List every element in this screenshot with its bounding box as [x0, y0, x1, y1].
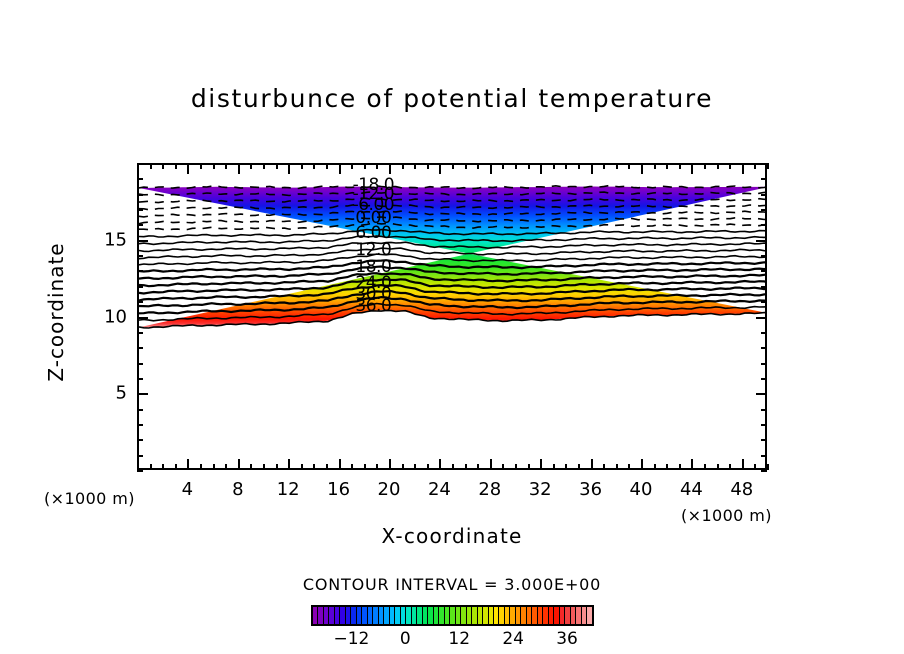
- x-tick-minor-top: [150, 163, 152, 169]
- x-tick-minor-top: [465, 163, 467, 169]
- x-tick-major-top: [591, 163, 593, 174]
- x-tick-minor: [150, 464, 152, 470]
- y-tick-minor-right: [761, 409, 767, 411]
- x-tick-minor: [603, 464, 605, 470]
- x-tick-label: 12: [277, 479, 300, 500]
- x-tick-minor-top: [528, 163, 530, 169]
- x-tick-minor: [666, 464, 668, 470]
- x-tick-major: [389, 459, 391, 470]
- y-tick-minor: [137, 347, 143, 349]
- x-tick-minor-top: [654, 163, 656, 169]
- y-tick-minor-right: [761, 270, 767, 272]
- contour-line-negative: [139, 205, 765, 210]
- x-tick-minor-top: [666, 163, 668, 169]
- colorbar-tick-label: 0: [400, 629, 411, 649]
- x-tick-minor: [276, 464, 278, 470]
- x-tick-minor: [162, 464, 164, 470]
- x-tick-minor: [263, 464, 265, 470]
- plot-area: -18.0-12.0-6.000.006.0012.018.024.030.03…: [137, 163, 767, 470]
- y-tick-minor-right: [761, 363, 767, 365]
- x-tick-minor: [452, 464, 454, 470]
- x-tick-major: [439, 459, 441, 470]
- x-tick-minor-top: [276, 163, 278, 169]
- colorbar-tick-labels: −120122436: [311, 629, 594, 653]
- x-tick-minor-top: [515, 163, 517, 169]
- contour-line-negative: [139, 198, 765, 202]
- y-tick-minor-right: [761, 455, 767, 457]
- contour-line-negative: [139, 223, 765, 230]
- x-tick-minor: [515, 464, 517, 470]
- x-tick-minor: [729, 464, 731, 470]
- colorbar-caption: CONTOUR INTERVAL = 3.000E+00: [0, 575, 904, 594]
- x-tick-major-top: [389, 163, 391, 174]
- x-tick-minor-top: [729, 163, 731, 169]
- y-tick-minor: [137, 424, 143, 426]
- y-tick-label: 15: [95, 229, 127, 250]
- y-tick-minor-right: [761, 224, 767, 226]
- x-tick-minor-top: [717, 163, 719, 169]
- x-tick-minor-top: [427, 163, 429, 169]
- x-tick-minor-top: [162, 163, 164, 169]
- x-tick-minor: [200, 464, 202, 470]
- x-tick-minor: [313, 464, 315, 470]
- x-tick-minor: [175, 464, 177, 470]
- y-tick-minor-right: [761, 439, 767, 441]
- y-tick-major-right: [756, 240, 767, 242]
- y-tick-minor: [137, 409, 143, 411]
- x-tick-minor-top: [175, 163, 177, 169]
- x-tick-minor: [628, 464, 630, 470]
- x-tick-label: 16: [327, 479, 350, 500]
- contour-field-container: -18.0-12.0-6.000.006.0012.018.024.030.03…: [139, 165, 765, 468]
- y-tick-major-right: [756, 317, 767, 319]
- x-tick-major: [742, 459, 744, 470]
- x-tick-minor-top: [250, 163, 252, 169]
- x-tick-minor-top: [603, 163, 605, 169]
- contour-line-positive: [139, 230, 765, 238]
- x-axis-unit-left: (×1000 m): [44, 489, 135, 508]
- y-tick-major: [137, 240, 148, 242]
- x-tick-minor: [502, 464, 504, 470]
- x-tick-minor: [213, 464, 215, 470]
- x-tick-minor: [616, 464, 618, 470]
- y-tick-minor: [137, 332, 143, 334]
- x-tick-major: [490, 459, 492, 470]
- x-tick-minor: [364, 464, 366, 470]
- x-tick-major: [691, 459, 693, 470]
- x-tick-minor: [767, 464, 769, 470]
- x-tick-minor: [250, 464, 252, 470]
- x-tick-minor: [301, 464, 303, 470]
- x-tick-minor-top: [679, 163, 681, 169]
- x-tick-minor: [565, 464, 567, 470]
- x-tick-major: [591, 459, 593, 470]
- contour-line-negative: [139, 211, 765, 217]
- y-axis-title-text: Z-coordinate: [44, 227, 68, 397]
- x-tick-minor-top: [565, 163, 567, 169]
- x-tick-major: [540, 459, 542, 470]
- x-tick-minor-top: [301, 163, 303, 169]
- x-tick-major-top: [490, 163, 492, 174]
- x-tick-minor-top: [225, 163, 227, 169]
- y-tick-minor: [137, 255, 143, 257]
- x-tick-label: 40: [630, 479, 653, 500]
- y-tick-minor: [137, 270, 143, 272]
- x-tick-major: [238, 459, 240, 470]
- y-tick-minor: [137, 439, 143, 441]
- x-tick-minor: [225, 464, 227, 470]
- contour-line-positive: [139, 285, 765, 301]
- x-tick-label: 24: [428, 479, 451, 500]
- x-tick-minor-top: [402, 163, 404, 169]
- y-tick-minor-right: [761, 178, 767, 180]
- x-tick-label: 4: [182, 479, 193, 500]
- x-axis-title: X-coordinate: [0, 524, 904, 548]
- colorbar-tick-label: 24: [502, 629, 524, 649]
- y-tick-minor: [137, 301, 143, 303]
- contour-line-positive: [139, 236, 765, 245]
- contour-line-negative: [139, 217, 765, 224]
- x-tick-label: 48: [730, 479, 753, 500]
- x-tick-minor: [578, 464, 580, 470]
- y-tick-minor-right: [761, 286, 767, 288]
- y-tick-minor: [137, 455, 143, 457]
- contour-line-positive: [139, 291, 765, 306]
- x-tick-major: [187, 459, 189, 470]
- y-tick-minor-right: [761, 209, 767, 211]
- y-tick-minor-right: [761, 378, 767, 380]
- x-tick-label: 44: [680, 479, 703, 500]
- x-tick-minor-top: [376, 163, 378, 169]
- colorbar-tick-label: −12: [333, 629, 369, 649]
- x-axis-unit-right: (×1000 m): [681, 506, 772, 525]
- y-tick-major: [137, 163, 148, 165]
- y-tick-minor: [137, 194, 143, 196]
- x-tick-major-top: [288, 163, 290, 174]
- x-tick-minor-top: [452, 163, 454, 169]
- x-tick-minor-top: [578, 163, 580, 169]
- x-tick-minor-top: [364, 163, 366, 169]
- y-tick-minor: [137, 286, 143, 288]
- x-tick-minor: [402, 464, 404, 470]
- y-tick-minor-right: [761, 332, 767, 334]
- x-tick-major-top: [339, 163, 341, 174]
- y-tick-major: [137, 317, 148, 319]
- y-tick-minor-right: [761, 424, 767, 426]
- x-tick-major: [641, 459, 643, 470]
- contour-line-negative: [139, 192, 765, 196]
- figure-title: disturbunce of potential temperature: [0, 84, 904, 113]
- y-tick-major-right: [756, 393, 767, 395]
- x-tick-major-top: [540, 163, 542, 174]
- y-tick-minor: [137, 224, 143, 226]
- x-tick-minor: [414, 464, 416, 470]
- colorbar: [311, 605, 594, 626]
- x-tick-minor-top: [263, 163, 265, 169]
- y-tick-minor-right: [761, 194, 767, 196]
- y-tick-label: 10: [95, 306, 127, 327]
- x-tick-minor-top: [616, 163, 618, 169]
- contour-plot-figure: disturbunce of potential temperature -18…: [0, 0, 904, 654]
- x-tick-major-top: [641, 163, 643, 174]
- colorbar-swatch: [587, 607, 591, 624]
- x-tick-minor-top: [200, 163, 202, 169]
- x-tick-minor: [754, 464, 756, 470]
- x-tick-minor-top: [704, 163, 706, 169]
- x-tick-minor: [427, 464, 429, 470]
- y-tick-major-right: [756, 163, 767, 165]
- x-tick-minor: [351, 464, 353, 470]
- x-tick-major-top: [238, 163, 240, 174]
- x-tick-minor: [528, 464, 530, 470]
- y-tick-minor: [137, 378, 143, 380]
- contour-lines-svg: [139, 165, 765, 468]
- x-tick-minor-top: [326, 163, 328, 169]
- x-tick-major-top: [439, 163, 441, 174]
- x-tick-minor: [704, 464, 706, 470]
- x-tick-minor-top: [477, 163, 479, 169]
- x-tick-minor: [679, 464, 681, 470]
- x-tick-minor-top: [351, 163, 353, 169]
- y-tick-minor: [137, 178, 143, 180]
- y-tick-minor-right: [761, 301, 767, 303]
- x-tick-label: 20: [378, 479, 401, 500]
- x-tick-minor: [326, 464, 328, 470]
- colorbar-tick-label: 36: [556, 629, 578, 649]
- x-tick-minor-top: [767, 163, 769, 169]
- x-tick-minor: [477, 464, 479, 470]
- x-tick-major-top: [691, 163, 693, 174]
- x-tick-major-top: [187, 163, 189, 174]
- colorbar-tick-label: 12: [448, 629, 470, 649]
- x-tick-minor-top: [502, 163, 504, 169]
- x-tick-minor: [654, 464, 656, 470]
- x-tick-major-top: [742, 163, 744, 174]
- x-tick-minor: [717, 464, 719, 470]
- x-tick-label: 28: [478, 479, 501, 500]
- contour-line-negative: [139, 186, 765, 189]
- y-tick-label: 5: [95, 383, 127, 404]
- x-tick-minor: [553, 464, 555, 470]
- y-tick-minor: [137, 363, 143, 365]
- x-tick-label: 32: [529, 479, 552, 500]
- y-tick-minor: [137, 209, 143, 211]
- x-tick-minor: [376, 464, 378, 470]
- x-tick-minor-top: [213, 163, 215, 169]
- x-tick-minor-top: [414, 163, 416, 169]
- x-tick-label: 36: [579, 479, 602, 500]
- x-tick-minor-top: [553, 163, 555, 169]
- x-tick-label: 8: [232, 479, 243, 500]
- x-tick-minor: [465, 464, 467, 470]
- x-tick-major: [339, 459, 341, 470]
- y-tick-minor-right: [761, 255, 767, 257]
- x-tick-major: [288, 459, 290, 470]
- x-tick-minor-top: [313, 163, 315, 169]
- y-tick-major: [137, 393, 148, 395]
- x-tick-minor-top: [628, 163, 630, 169]
- y-tick-minor-right: [761, 470, 767, 472]
- y-tick-minor-right: [761, 347, 767, 349]
- contour-label: 36.0: [355, 296, 391, 316]
- y-tick-minor: [137, 470, 143, 472]
- contour-line-positive: [139, 273, 765, 286]
